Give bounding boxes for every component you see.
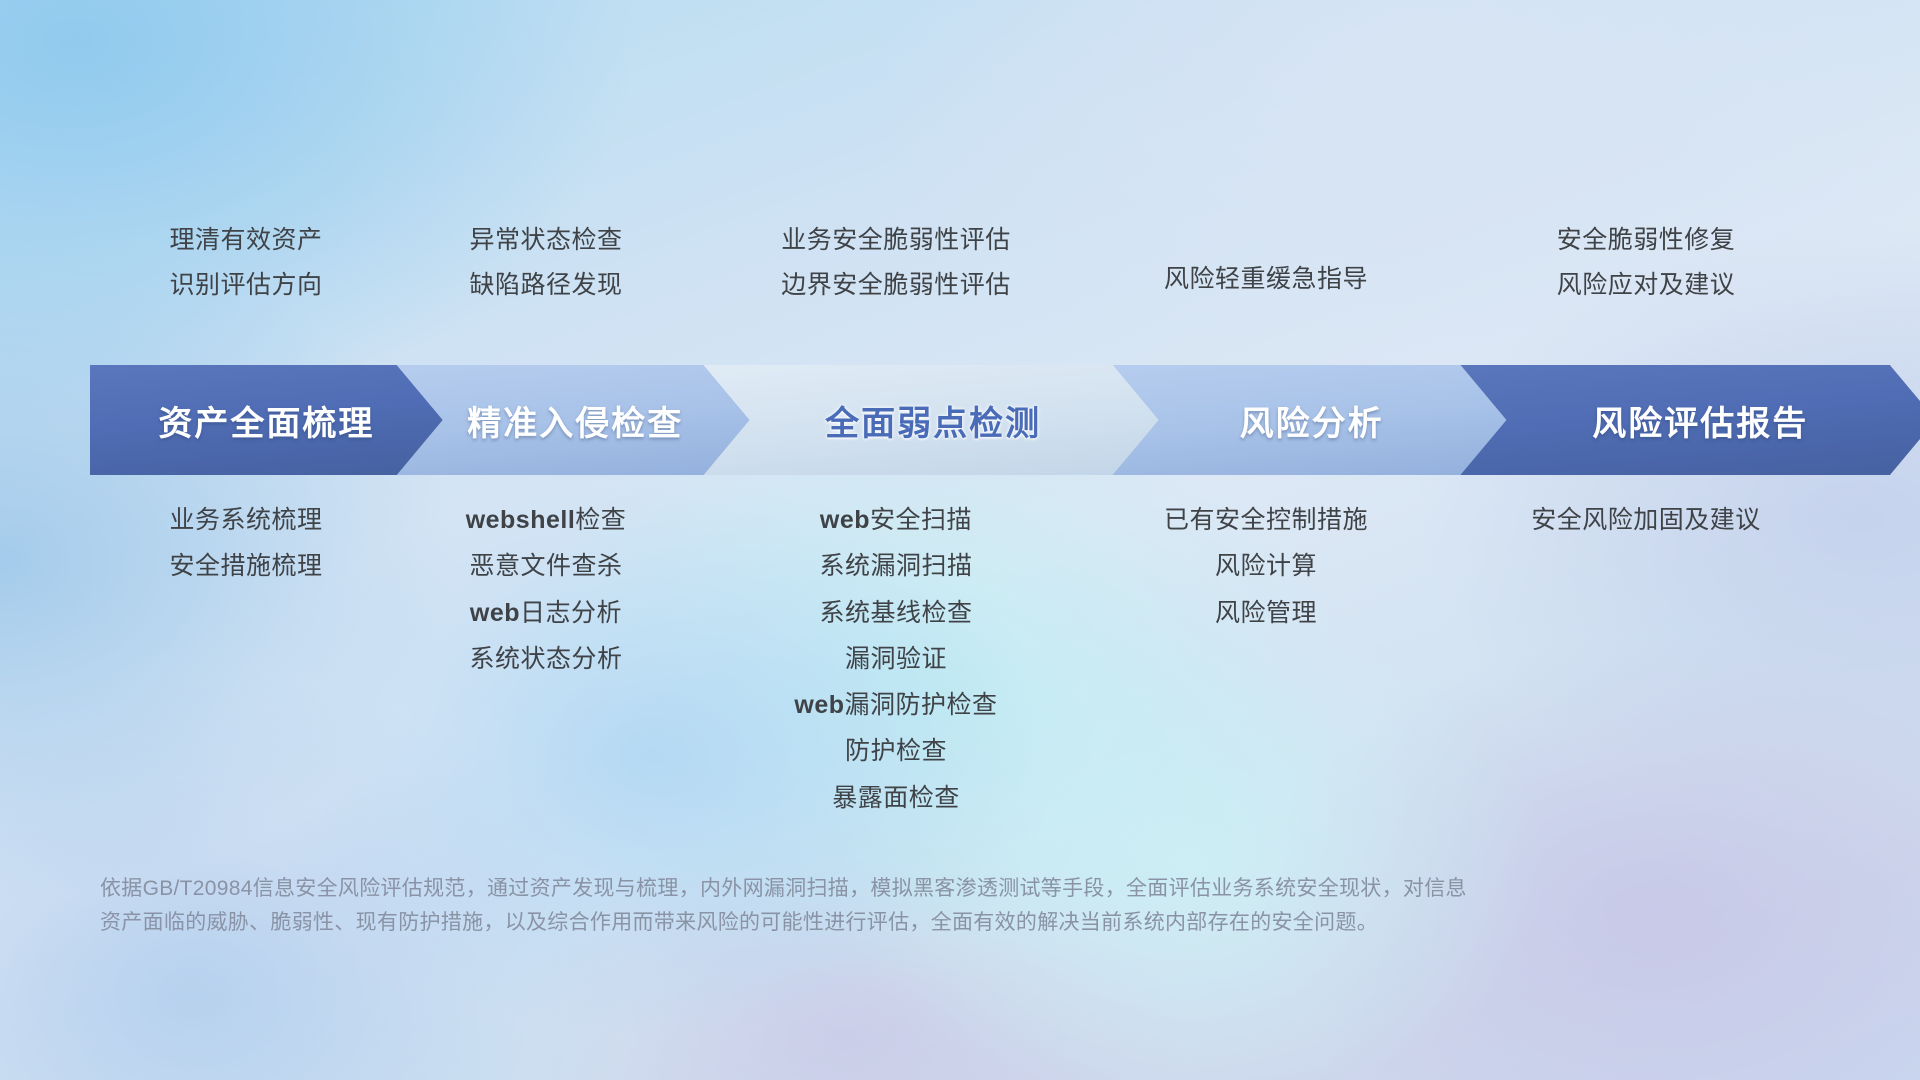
bottom-note-line: web日志分析 [470,598,622,629]
stage-chevron-asset-inventory[interactable]: 资产全面梳理 [90,365,443,475]
bottom-note-line: 系统漏洞扫描 [819,551,972,582]
bottom-note-cn: 检查 [575,506,626,534]
stage-title: 风险分析 [1214,396,1384,445]
bottom-notes-assessment-report: 安全风险加固及建议 [1436,505,1856,814]
bottom-note-line: 已有安全控制措施 [1164,505,1368,536]
bottom-note-cn: 暴露面检查 [832,784,960,812]
top-note-line: 识别评估方向 [169,270,322,301]
bottom-note-line: 漏洞验证 [845,644,947,675]
bottom-note-cn: 漏洞验证 [845,645,947,673]
top-note-line: 异常状态检查 [469,225,622,256]
bottom-note-cn: 系统状态分析 [469,645,622,673]
top-note-line: 安全脆弱性修复 [1557,225,1736,256]
top-notes-weakness-detection: 业务安全脆弱性评估边界安全脆弱性评估 [696,225,1096,302]
top-notes-asset-inventory: 理清有效资产识别评估方向 [96,225,396,302]
top-note-line: 理清有效资产 [169,225,322,256]
bottom-note-line: 防护检查 [845,736,947,767]
bottom-note-cn: 恶意文件查杀 [469,552,622,580]
top-notes-risk-analysis: 风险轻重缓急指导 [1096,225,1436,302]
bottom-note-line: 暴露面检查 [832,783,960,814]
bottom-note-cn: 安全措施梳理 [169,552,322,580]
stage-title: 资产全面梳理 [158,396,374,445]
top-note-line: 风险轻重缓急指导 [1164,264,1368,295]
stage-chevron-assessment-report[interactable]: 风险评估报告 [1438,365,1920,475]
bottom-note-en: web [794,691,844,719]
bottom-note-line: 风险管理 [1215,598,1317,629]
stage-title: 风险评估报告 [1566,396,1808,445]
footer-line-2: 资产面临的威胁、脆弱性、现有防护措施，以及综合作用而带来风险的可能性进行评估，全… [100,906,1620,940]
bottom-notes-row: 业务系统梳理安全措施梳理webshell检查恶意文件查杀web日志分析系统状态分… [96,505,1856,814]
bottom-notes-risk-analysis: 已有安全控制措施风险计算风险管理 [1096,505,1436,814]
top-note-line: 业务安全脆弱性评估 [781,225,1011,256]
bottom-note-line: webshell检查 [466,505,627,536]
bottom-note-line: 恶意文件查杀 [469,551,622,582]
stage-chevron-weakness-detection[interactable]: 全面弱点检测 [682,365,1159,475]
top-note-line: 缺陷路径发现 [469,270,622,301]
top-note-line: 边界安全脆弱性评估 [781,270,1011,301]
bottom-note-line: 安全措施梳理 [169,551,322,582]
bottom-note-cn: 业务系统梳理 [169,506,322,534]
stage-title: 全面弱点检测 [799,396,1041,445]
top-notes-intrusion-check: 异常状态检查缺陷路径发现 [396,225,696,302]
bottom-note-line: 风险计算 [1215,551,1317,582]
bottom-note-cn: 风险管理 [1215,599,1317,627]
bottom-notes-asset-inventory: 业务系统梳理安全措施梳理 [96,505,396,814]
bottom-note-cn: 风险计算 [1215,552,1317,580]
bottom-notes-weakness-detection: web安全扫描系统漏洞扫描系统基线检查漏洞验证web漏洞防护检查防护检查暴露面检… [696,505,1096,814]
bottom-note-line: web漏洞防护检查 [794,690,997,721]
bottom-note-cn: 漏洞防护检查 [845,691,998,719]
top-notes-assessment-report: 安全脆弱性修复风险应对及建议 [1436,225,1856,302]
footer-description: 依据GB/T20984信息安全风险评估规范，通过资产发现与梳理，内外网漏洞扫描，… [100,872,1620,940]
bottom-note-line: 业务系统梳理 [169,505,322,536]
bottom-note-cn: 安全风险加固及建议 [1531,506,1761,534]
bottom-note-en: web [470,599,520,627]
bottom-note-en: web [820,506,870,534]
top-note-line: 风险应对及建议 [1557,270,1736,301]
bottom-notes-intrusion-check: webshell检查恶意文件查杀web日志分析系统状态分析 [396,505,696,814]
bottom-note-cn: 系统漏洞扫描 [819,552,972,580]
infographic-page: 理清有效资产识别评估方向异常状态检查缺陷路径发现业务安全脆弱性评估边界安全脆弱性… [0,0,1920,1080]
top-notes-row: 理清有效资产识别评估方向异常状态检查缺陷路径发现业务安全脆弱性评估边界安全脆弱性… [96,225,1856,302]
bottom-note-line: 系统状态分析 [469,644,622,675]
bottom-note-cn: 已有安全控制措施 [1164,506,1368,534]
bottom-note-line: 安全风险加固及建议 [1531,505,1761,536]
bottom-note-cn: 系统基线检查 [819,599,972,627]
stage-title: 精准入侵检查 [441,396,683,445]
bottom-note-line: web安全扫描 [820,505,972,536]
footer-line-1: 依据GB/T20984信息安全风险评估规范，通过资产发现与梳理，内外网漏洞扫描，… [100,872,1620,906]
bottom-note-cn: 防护检查 [845,737,947,765]
bottom-note-cn: 安全扫描 [870,506,972,534]
process-chevron-band: 资产全面梳理精准入侵检查全面弱点检测风险分析风险评估报告 [90,365,1890,475]
bottom-note-cn: 日志分析 [520,599,622,627]
bottom-note-en: webshell [466,506,576,534]
bottom-note-line: 系统基线检查 [819,598,972,629]
